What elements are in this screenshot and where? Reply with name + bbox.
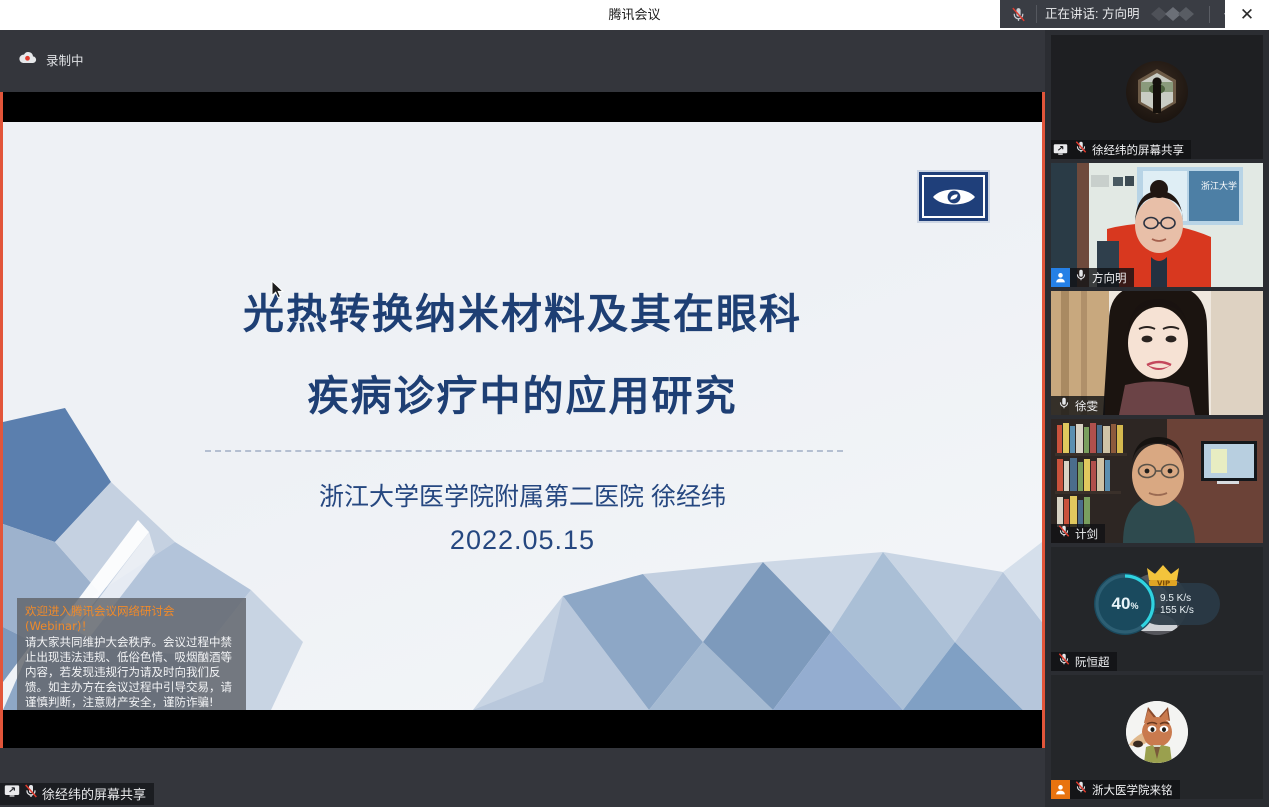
participant-label: 浙大医学院来铭 (1051, 780, 1180, 799)
participant-label: 计剑 (1051, 524, 1105, 543)
eye-logo-icon (917, 170, 990, 223)
svg-text:浙江大学: 浙江大学 (1201, 180, 1237, 192)
participant-name: 徐经纬的屏幕共享 (1092, 142, 1184, 158)
slide-affiliation: 浙江大学医学院附属第二医院 徐经纬 (3, 477, 1042, 513)
webinar-notice-box: 欢迎进入腾讯会议网络研讨会(Webinar)！ 请大家共同维护大会秩序。会议过程… (17, 598, 246, 710)
mic-on-icon (1074, 268, 1088, 287)
title-bar: 腾讯会议 正在讲话: 方向明 (0, 0, 1269, 30)
recording-bar: 录制中 (0, 30, 1045, 92)
host-icon (1051, 268, 1070, 287)
shared-screen-stage: 录制中 (0, 30, 1045, 807)
cloud-record-icon (18, 51, 37, 69)
participant-name: 方向明 (1092, 270, 1127, 286)
presentation-slide: 光热转换纳米材料及其在眼科 疾病诊疗中的应用研究 浙江大学医学院附属第二医院 徐… (3, 122, 1042, 710)
participant-name: 阮恒超 (1075, 654, 1110, 670)
toolbar-divider (1209, 6, 1210, 23)
screen-share-icon (4, 784, 20, 803)
mic-off-icon (1051, 524, 1071, 543)
download-rate-row: 155 K/s (1147, 605, 1220, 616)
share-status-label: 徐经纬的屏幕共享 (42, 784, 146, 803)
speaking-label: 正在讲话: 方向明 (1036, 5, 1139, 23)
share-status-chip: 徐经纬的屏幕共享 (0, 783, 154, 805)
bottom-status-bar: 徐经纬的屏幕共享 (0, 780, 1045, 807)
upload-rate: 9.5 K/s (1160, 593, 1191, 604)
participant-label: 徐雯 (1051, 396, 1105, 415)
participant-tile[interactable]: 徐雯 (1051, 291, 1263, 415)
mouse-cursor (271, 280, 285, 305)
screen-share-icon (1051, 140, 1070, 159)
meeting-window: 腾讯会议 正在讲话: 方向明 (0, 0, 1269, 807)
download-rate: 155 K/s (1160, 605, 1194, 616)
participant-label: 阮恒超 (1051, 652, 1117, 671)
mic-off-icon (1051, 652, 1071, 671)
slide-divider (205, 450, 843, 452)
participant-name: 徐雯 (1075, 398, 1098, 414)
slide-date: 2022.05.15 (3, 525, 1042, 556)
webinar-notice-headline: 欢迎进入腾讯会议网络研讨会(Webinar)！ (25, 604, 238, 634)
download-status-widget: VIP 9.5 K/s 155 K/s (1094, 573, 1220, 635)
participant-tile[interactable]: 徐经纬的屏幕共享 (1051, 35, 1263, 159)
letterbox-top (0, 92, 1045, 122)
mic-off-icon (23, 783, 39, 804)
participant-label: 方向明 (1051, 268, 1134, 287)
svg-text:VIP: VIP (1157, 580, 1170, 588)
mic-off-icon (1074, 780, 1088, 799)
vip-crown-icon: VIP (1146, 564, 1180, 593)
upload-rate-row: 9.5 K/s (1147, 593, 1220, 604)
mic-on-icon (1051, 396, 1071, 415)
participant-tile[interactable]: 计剑 (1051, 419, 1263, 543)
recording-label: 录制中 (46, 50, 84, 69)
letterbox-bottom (0, 710, 1045, 748)
participant-name: 计剑 (1075, 526, 1098, 542)
co-host-icon (1051, 780, 1070, 799)
participant-filmstrip[interactable]: 徐经纬的屏幕共享 浙江大学 (1045, 30, 1269, 807)
slide-title-line-1: 光热转换纳米材料及其在眼科 (3, 280, 1042, 340)
participant-tile[interactable]: VIP 9.5 K/s 155 K/s (1051, 547, 1263, 671)
recording-indicator: 录制中 (18, 50, 84, 69)
participant-label: 徐经纬的屏幕共享 (1051, 140, 1191, 159)
participant-tile[interactable]: 浙江大学 (1051, 163, 1263, 287)
participant-name: 浙大医学院来铭 (1092, 782, 1173, 798)
slide-title-line-2: 疾病诊疗中的应用研究 (3, 362, 1042, 422)
mic-off-icon (1074, 140, 1088, 159)
webinar-notice-body: 请大家共同维护大会秩序。会议过程中禁止出现违法违规、低俗色情、吸烟酗酒等内容，若… (25, 635, 232, 709)
tencent-meeting-logo-icon (1149, 4, 1195, 24)
participant-tile[interactable]: 浙大医学院来铭 (1051, 675, 1263, 799)
mic-off-icon (1000, 0, 1036, 28)
close-icon[interactable]: ✕ (1225, 0, 1269, 30)
avatar (1126, 701, 1188, 763)
avatar (1126, 61, 1188, 123)
